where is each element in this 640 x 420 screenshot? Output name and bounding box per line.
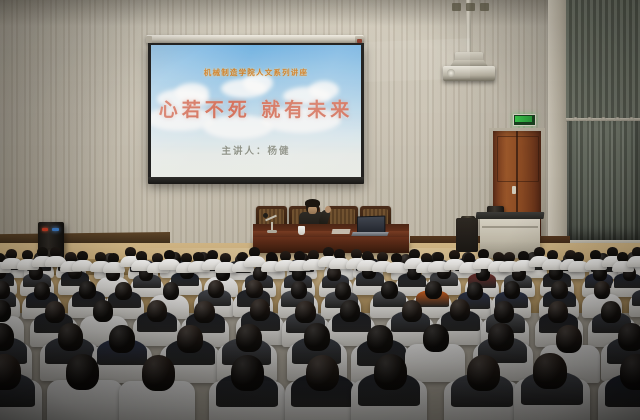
- audience-head: [423, 324, 449, 352]
- audience-head: [425, 281, 442, 299]
- audience-head: [163, 282, 180, 300]
- audience-head: [194, 301, 214, 323]
- audience-head: [246, 280, 263, 298]
- audience-head: [594, 281, 611, 299]
- seated-audience: [0, 0, 640, 420]
- audience-head: [367, 325, 393, 353]
- audience-head: [467, 282, 484, 300]
- audience-head: [295, 301, 315, 323]
- audience-head: [533, 353, 566, 389]
- audience-head: [548, 301, 568, 323]
- audience-head: [551, 281, 568, 299]
- audience-head: [381, 281, 398, 299]
- audience-head: [34, 282, 51, 300]
- audience-head: [618, 323, 640, 351]
- audience-head: [142, 355, 175, 391]
- audience-head: [79, 281, 96, 299]
- audience-head: [147, 300, 167, 322]
- audience-head: [620, 354, 640, 390]
- audience-head: [208, 280, 225, 298]
- audience-head: [340, 300, 360, 322]
- audience-head: [115, 282, 132, 300]
- audience-head: [58, 323, 84, 351]
- audience-head: [556, 325, 582, 353]
- audience-head: [109, 325, 135, 353]
- audience-head: [467, 355, 500, 391]
- audience-head: [488, 323, 514, 351]
- audience-head: [0, 281, 10, 299]
- audience-head: [335, 282, 352, 300]
- audience-head: [374, 354, 407, 390]
- audience-head: [66, 354, 99, 390]
- audience-head: [177, 325, 203, 353]
- audience-head: [450, 299, 470, 321]
- lecture-hall-photo: 机械制造学院人文系列讲座 心若不死 就有未来 主讲人：杨健: [0, 0, 640, 420]
- audience-head: [236, 324, 262, 352]
- audience-head: [250, 299, 270, 321]
- audience-head: [93, 300, 113, 322]
- audience-head: [402, 300, 422, 322]
- audience-head: [304, 323, 330, 351]
- audience-head: [494, 301, 514, 323]
- audience-head: [504, 281, 521, 299]
- audience-head: [306, 355, 339, 391]
- audience-head: [291, 281, 308, 299]
- audience-head: [45, 301, 65, 323]
- audience-head: [601, 301, 621, 323]
- audience-shoulders: [632, 289, 640, 306]
- audience-head: [231, 355, 264, 391]
